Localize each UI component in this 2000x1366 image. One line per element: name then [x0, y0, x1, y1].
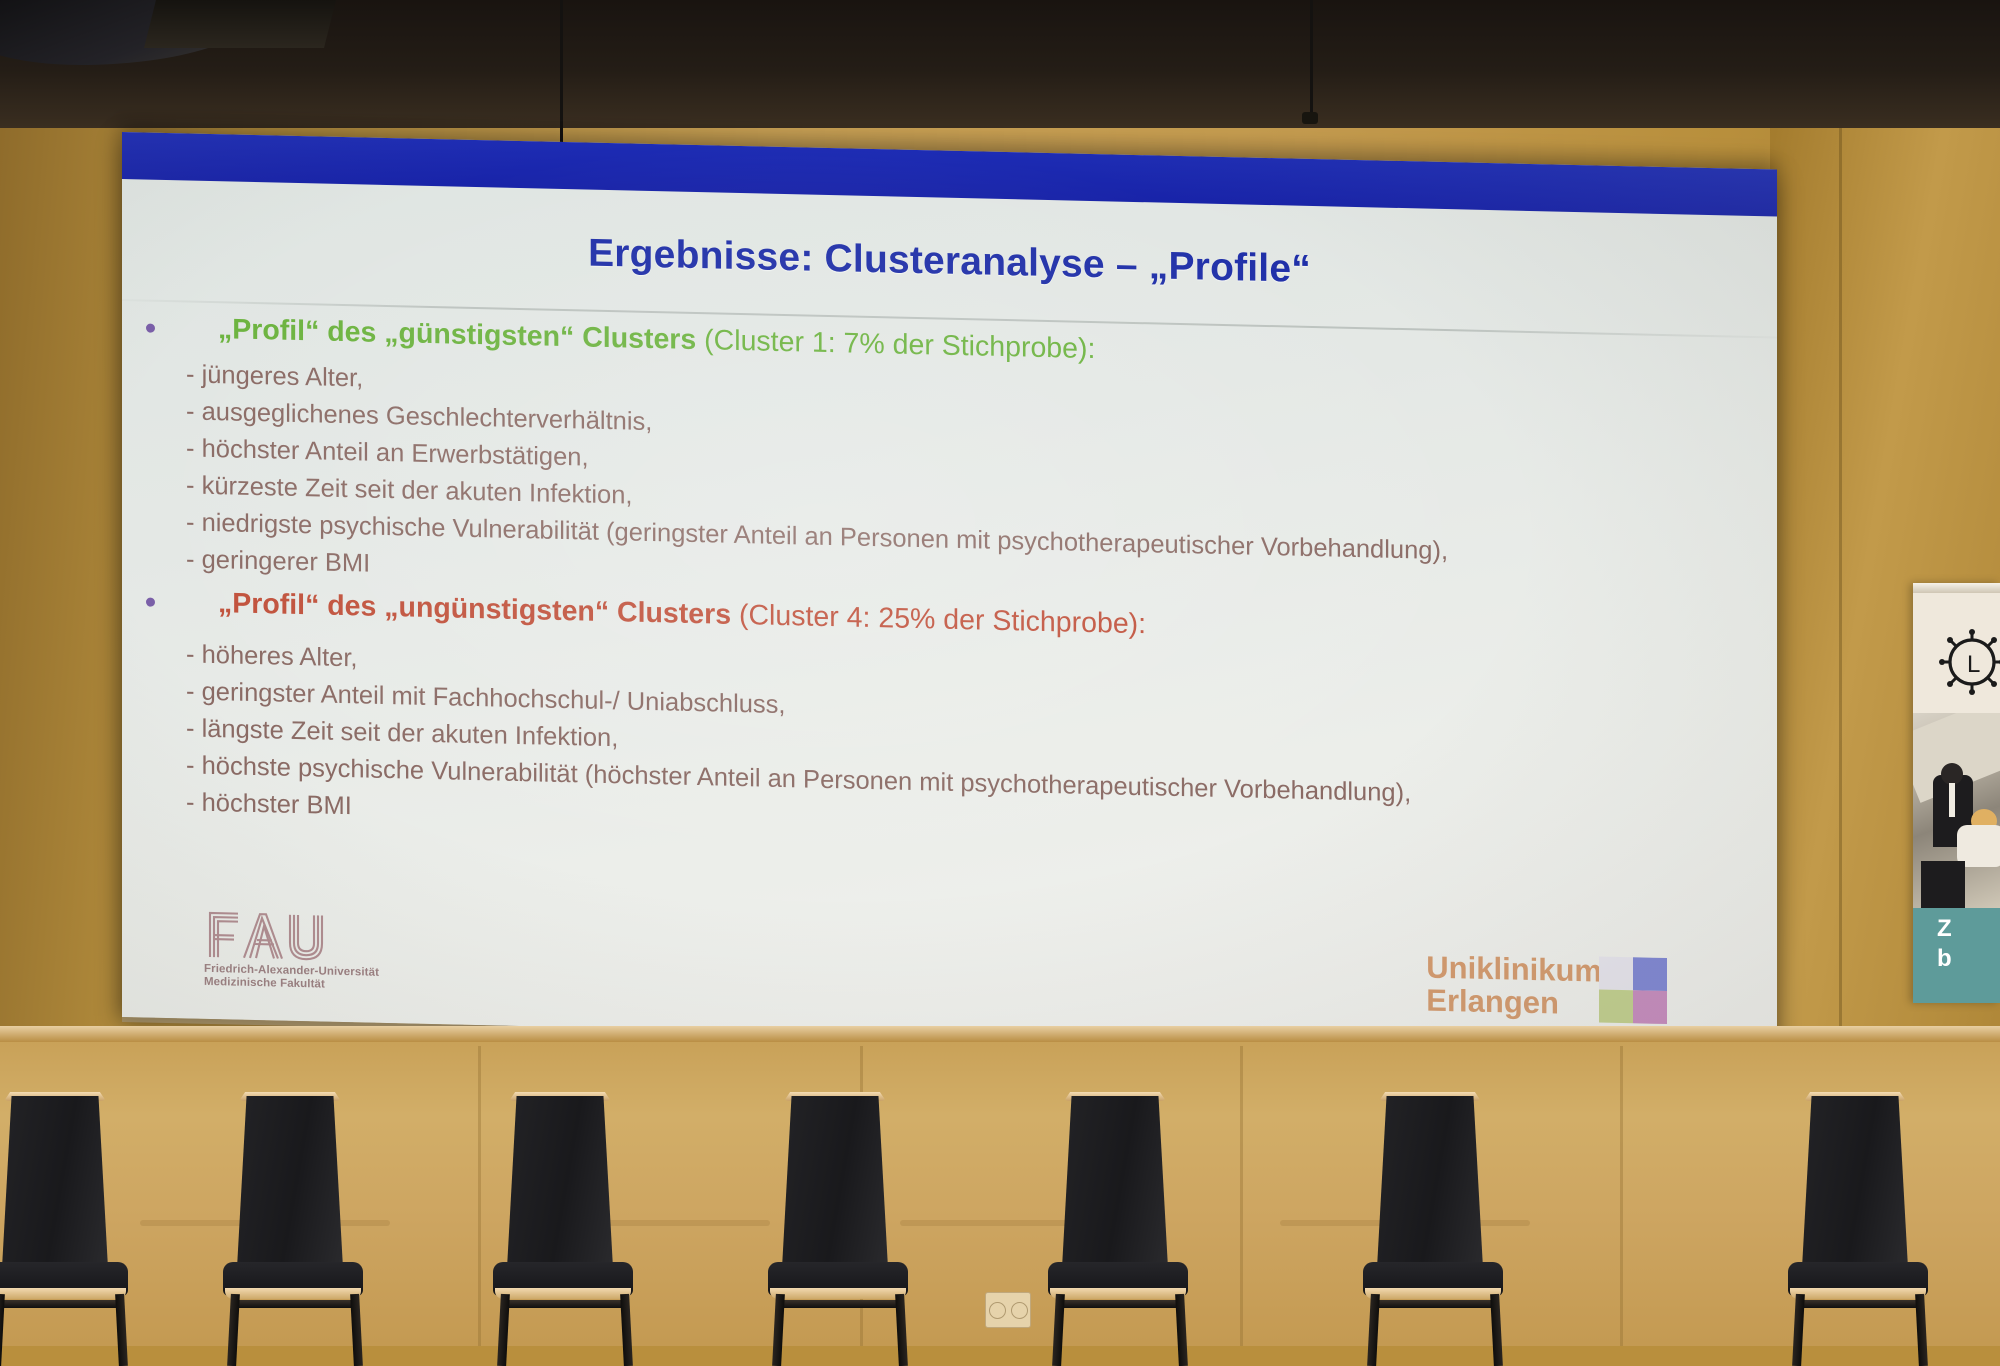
- uniklinikum-line2: Erlangen: [1426, 984, 1602, 1021]
- square-1: [1599, 957, 1633, 991]
- chair: [760, 1096, 920, 1356]
- square-4: [1633, 990, 1667, 1024]
- banner-top-rail: [1913, 583, 2000, 593]
- chair: [215, 1096, 375, 1356]
- stage-area: [0, 1026, 2000, 1346]
- projection-screen: Ergebnisse: Clusteranalyse – „Profile“ „…: [122, 132, 1777, 1055]
- banner-photograph: [1913, 713, 2000, 908]
- socket-outlet-right: [1011, 1302, 1028, 1319]
- banner-photo-shirt: [1949, 783, 1955, 817]
- uniklinikum-line1: Uniklinikum: [1426, 951, 1602, 988]
- chair: [485, 1096, 645, 1356]
- fau-wordmark-icon: [204, 907, 332, 962]
- bullet-dot-2: [146, 598, 155, 607]
- banner-teal-panel: Z b: [1913, 908, 2000, 1003]
- svg-text:L: L: [1967, 651, 1980, 678]
- page-title: Ergebnisse: Clusteranalyse – „Profile“: [122, 221, 1777, 303]
- uniklinikum-logo: Uniklinikum Erlangen: [1426, 951, 1602, 1021]
- banner-photo-person-b: [1921, 861, 1965, 908]
- power-socket: [985, 1292, 1031, 1328]
- hanging-wire-knob-right: [1302, 112, 1318, 124]
- ceiling-duct-secondary: [144, 0, 336, 48]
- wall-panel-seam: [478, 1046, 481, 1346]
- chair: [1780, 1096, 1940, 1356]
- socket-outlet-left: [989, 1302, 1006, 1319]
- virus-clock-icon: L: [1935, 627, 2000, 697]
- section-1-heading-paren: (Cluster 1: 7% der Stichprobe):: [696, 324, 1095, 365]
- wall-panel-seam: [1240, 1046, 1243, 1346]
- fau-logo: Friedrich-Alexander-Universität Medizini…: [204, 907, 389, 993]
- chair: [0, 1096, 140, 1356]
- section-2-heading-paren: (Cluster 4: 25% der Stichprobe):: [731, 599, 1146, 640]
- uniklinikum-squares-icon: [1599, 957, 1667, 1025]
- conference-room-background: L Z b Ergebnisse: Clusteranalyse – „Prof…: [0, 0, 2000, 1346]
- fau-logo-subtitle: Friedrich-Alexander-Universität Medizini…: [204, 963, 389, 993]
- banner-photo-head-a: [1941, 763, 1963, 785]
- section-1-heading-strong: „Profil“ des „günstigsten“ Clusters: [218, 313, 696, 356]
- banner-teal-line1: Z: [1937, 914, 1952, 944]
- hanging-wire-left: [560, 0, 563, 148]
- section-2-heading-strong: „Profil“ des „ungünstigsten“ Clusters: [218, 587, 731, 631]
- bullet-dot-1: [146, 324, 155, 333]
- chair: [1355, 1096, 1515, 1356]
- slide-content: Ergebnisse: Clusteranalyse – „Profile“ „…: [122, 179, 1777, 1055]
- square-3: [1599, 990, 1633, 1024]
- wall-panel-seam: [1620, 1046, 1623, 1346]
- square-2: [1633, 957, 1667, 991]
- rollup-banner: L Z b: [1913, 583, 2000, 1003]
- hanging-wire-right: [1310, 0, 1313, 118]
- stage-ledge: [0, 1026, 2000, 1042]
- slide-body: „Profil“ des „günstigsten“ Clusters (Clu…: [122, 307, 1777, 858]
- banner-teal-line2: b: [1937, 944, 1952, 974]
- chair: [1040, 1096, 1200, 1356]
